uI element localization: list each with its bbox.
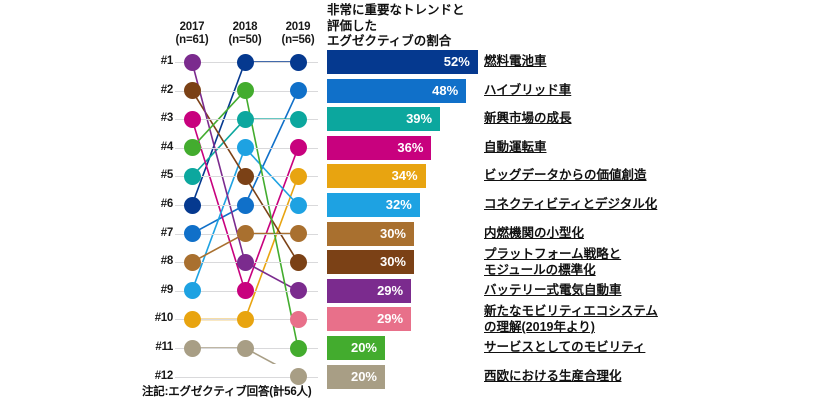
slope-dot [290,282,307,299]
caption-line: 評価した [327,19,527,35]
rank-label-10: #10 [140,312,173,324]
trend-label-10[interactable]: 新たなモビリティエコシステムの理解(2019年より) [484,303,658,335]
trend-label-line: モジュールの標準化 [484,262,621,278]
slope-dot [237,225,254,242]
slope-line [192,148,245,291]
bar: 52% [327,50,478,74]
bar: 20% [327,336,385,360]
slope-dot [290,139,307,156]
rank-label-8: #8 [140,255,173,267]
bar-row: 20%サービスとしてのモビリティ [327,336,807,360]
slope-dot [237,54,254,71]
rank-label-3: #3 [140,112,173,124]
bar: 29% [327,307,411,331]
trend-label-line: ハイブリッド車 [484,82,571,98]
year-label: 2019 [267,21,329,34]
bar-value-label: 48% [432,79,458,103]
bar-row: 39%新興市場の成長 [327,107,807,131]
slope-dot [290,111,307,128]
bar-value-label: 32% [386,193,412,217]
slope-dot [290,340,307,357]
rank-label-2: #2 [140,84,173,96]
trend-label-line: 自動運転車 [484,139,547,155]
slope-dot [237,82,254,99]
rank-label-1: #1 [140,55,173,67]
percent-bar-chart: 52%燃料電池車48%ハイブリッド車39%新興市場の成長36%自動運転車34%ビ… [327,52,807,367]
bar-row: 48%ハイブリッド車 [327,79,807,103]
slope-dot [184,82,201,99]
slope-dot [237,168,254,185]
slope-dot [290,225,307,242]
rank-label-7: #7 [140,227,173,239]
rank-label-4: #4 [140,141,173,153]
bar: 48% [327,79,466,103]
rank-label-11: #11 [140,341,173,353]
bar-value-label: 52% [444,50,470,74]
trend-label-4[interactable]: 自動運転車 [484,139,547,155]
slope-dot [290,254,307,271]
trend-label-5[interactable]: ビッグデータからの価値創造 [484,167,647,183]
slope-dot [184,54,201,71]
slope-dot [184,111,201,128]
infographic-root: 2017(n=61)2018(n=50)2019(n=56) 非常に重要なトレン… [0,0,820,406]
bar-row: 30%プラットフォーム戦略とモジュールの標準化 [327,250,807,274]
bar-value-label: 39% [406,107,432,131]
trend-label-line: ビッグデータからの価値創造 [484,167,647,183]
trend-label-line: 新興市場の成長 [484,110,572,126]
trend-label-line: コネクティビティとデジタル化 [484,196,657,212]
bar-value-label: 20% [351,336,377,360]
slope-dot [184,197,201,214]
bar-row: 34%ビッグデータからの価値創造 [327,164,807,188]
trend-label-line: 燃料電池車 [484,53,547,69]
trend-label-3[interactable]: 新興市場の成長 [484,110,572,126]
trend-label-1[interactable]: 燃料電池車 [484,53,547,69]
trend-label-9[interactable]: バッテリー式電気自動車 [484,282,622,298]
slope-dot [237,197,254,214]
bar-value-label: 30% [380,222,406,246]
rank-label-5: #5 [140,169,173,181]
trend-label-11[interactable]: サービスとしてのモビリティ [484,339,645,355]
caption-line: 非常に重要なトレンドと [327,3,527,19]
bar-value-label: 29% [377,307,403,331]
trend-label-7[interactable]: 内燃機関の小型化 [484,225,584,241]
bar-row: 29%バッテリー式電気自動車 [327,279,807,303]
bar: 30% [327,250,414,274]
bar-value-label: 36% [397,136,423,160]
bar: 29% [327,279,411,303]
rank-label-9: #9 [140,284,173,296]
rank-label-12: #12 [140,370,173,382]
slope-dot [237,340,254,357]
slope-dot [184,340,201,357]
slope-dot [290,54,307,71]
slope-dot [290,82,307,99]
trend-label-line: プラットフォーム戦略と [484,246,621,262]
footnote: 注記:エグゼクティブ回答(計56人) [142,383,312,399]
trend-label-8[interactable]: プラットフォーム戦略とモジュールの標準化 [484,246,621,278]
trend-label-line: の理解(2019年より) [484,319,658,335]
bar-value-label: 20% [351,365,377,389]
slope-dot [184,311,201,328]
bar-row: 52%燃料電池車 [327,50,807,74]
bar-value-label: 29% [377,279,403,303]
slope-dot [237,282,254,299]
trend-label-line: 西欧における生産合理化 [484,368,622,384]
trend-label-12[interactable]: 西欧における生産合理化 [484,368,622,384]
bar: 34% [327,164,426,188]
slope-dot [184,225,201,242]
caption-line: エグゼクティブの割合 [327,34,527,50]
slope-dot [290,168,307,185]
slope-dot [184,168,201,185]
slope-dot [237,311,254,328]
bar-value-label: 34% [392,164,418,188]
trend-label-line: サービスとしてのモビリティ [484,339,645,355]
slope-dot [237,139,254,156]
slope-line [245,91,298,348]
bar-row: 32%コネクティビティとデジタル化 [327,193,807,217]
bar-row: 30%内燃機関の小型化 [327,222,807,246]
slope-dot [237,111,254,128]
trend-label-line: バッテリー式電気自動車 [484,282,622,298]
slope-dot [184,139,201,156]
trend-label-2[interactable]: ハイブリッド車 [484,82,571,98]
slope-dot [290,311,307,328]
rank-slope-graph: #1#2#3#4#5#6#7#8#9#10#11#12 [140,52,330,364]
trend-label-line: 内燃機関の小型化 [484,225,584,241]
bar-row: 29%新たなモビリティエコシステムの理解(2019年より) [327,307,807,331]
bar-row: 20%西欧における生産合理化 [327,365,807,389]
slope-dot [237,254,254,271]
chart-caption: 非常に重要なトレンドと評価したエグゼクティブの割合 [327,3,527,50]
bar: 36% [327,136,431,160]
slope-dot [290,197,307,214]
year-header-2019: 2019(n=56) [267,21,329,46]
slope-dot [184,254,201,271]
year-sample-size: (n=56) [267,34,329,47]
rank-label-6: #6 [140,198,173,210]
slope-dot [184,282,201,299]
trend-label-line: 新たなモビリティエコシステム [484,303,658,319]
bar-row: 36%自動運転車 [327,136,807,160]
bar: 39% [327,107,440,131]
bar: 20% [327,365,385,389]
trend-label-6[interactable]: コネクティビティとデジタル化 [484,196,657,212]
bar-value-label: 30% [380,250,406,274]
bar: 30% [327,222,414,246]
bar: 32% [327,193,420,217]
